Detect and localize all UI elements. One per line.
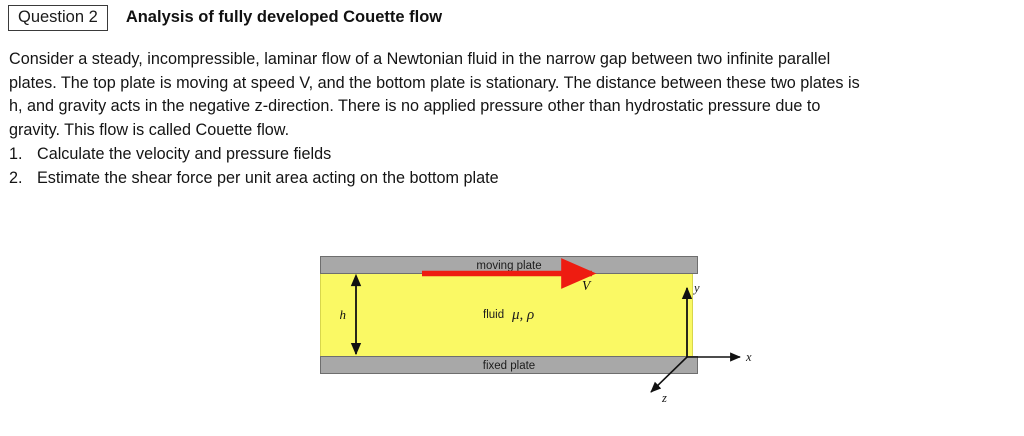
fluid-label: fluid: [483, 309, 504, 321]
couette-flow-diagram: moving plate fixed plate V h fluid μ, ρ …: [300, 240, 770, 420]
list-item-label: Estimate the shear force per unit area a…: [37, 167, 909, 191]
problem-statement-line-1: Consider a steady, incompressible, lamin…: [9, 48, 1015, 72]
problem-statement-line-2: plates. The top plate is moving at speed…: [9, 72, 1015, 96]
list-item-number: 2.: [9, 167, 37, 191]
axis-y-label: y: [692, 281, 700, 295]
fluid-region: [321, 274, 693, 357]
task-list: 1. Calculate the velocity and pressure f…: [9, 143, 909, 190]
list-item-label: Calculate the velocity and pressure fiel…: [37, 143, 909, 167]
axis-z-label: z: [661, 391, 667, 405]
question-header: Question 2 Analysis of fully developed C…: [8, 5, 442, 31]
fixed-plate-label: fixed plate: [483, 360, 535, 372]
gap-label: h: [340, 307, 347, 322]
problem-statement-line-4: gravity. This flow is called Couette flo…: [9, 119, 1015, 143]
fluid-properties-label: μ, ρ: [511, 307, 534, 323]
list-item-number: 1.: [9, 143, 37, 167]
problem-statement-line-3: h, and gravity acts in the negative z-di…: [9, 95, 1015, 119]
list-item: 2. Estimate the shear force per unit are…: [9, 167, 909, 191]
question-number-badge: Question 2: [8, 5, 108, 31]
page-title: Analysis of fully developed Couette flow: [126, 8, 442, 27]
axis-x-label: x: [745, 350, 752, 364]
problem-statement: Consider a steady, incompressible, lamin…: [9, 48, 1015, 143]
list-item: 1. Calculate the velocity and pressure f…: [9, 143, 909, 167]
moving-plate-label: moving plate: [476, 260, 541, 272]
